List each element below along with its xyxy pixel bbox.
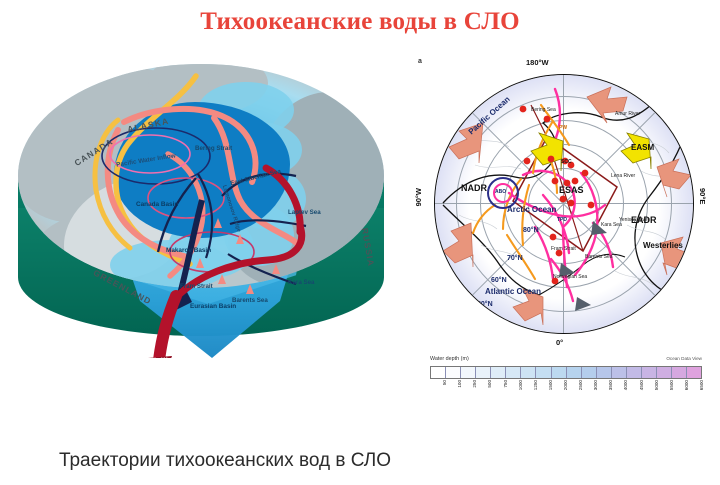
arctic-3d-block-diagram: CANADA ALASKA GREENLAND RUSSIA Pacific W… <box>0 58 400 358</box>
arctic-polar-map-figure: a 180°W 90°W 90°E 0° <box>412 56 712 401</box>
colorbar-swatch <box>597 367 612 378</box>
colorbar-swatch <box>642 367 657 378</box>
circulation-arrows <box>0 58 400 358</box>
colorbar-tick-label: 100 <box>457 380 462 388</box>
label-lon-90w: 90°W <box>414 188 423 206</box>
wind-arrow-north <box>587 87 627 123</box>
colorbar-swatch <box>431 367 446 378</box>
colorbar-swatch <box>567 367 582 378</box>
colorbar-title: Water depth (m) <box>430 356 469 362</box>
label-lon-0: 0° <box>556 338 563 347</box>
wind-arrow-west <box>443 223 473 267</box>
colorbar-swatch <box>506 367 521 378</box>
colorbar-tick-label: 250 <box>472 380 477 388</box>
makarov-basin-outline <box>148 178 224 218</box>
abo-eddy-circle <box>488 178 518 208</box>
polar-map-disc: Pacific Ocean Arctic Ocean Atlantic Ocea… <box>434 74 694 334</box>
colorbar-tick-label: 5500 <box>669 380 674 390</box>
page-title: Тихоокеанские воды в СЛО <box>0 8 720 36</box>
attribution-label: Ocean Data View <box>666 356 702 361</box>
colorbar-swatch <box>627 367 642 378</box>
colorbar-tick-label: 1000 <box>518 380 523 390</box>
colorbar-tick-label: 50 <box>442 380 447 385</box>
colorbar-tick-label: 2500 <box>578 380 583 390</box>
colorbar-tick-label: 6500 <box>699 380 704 390</box>
colorbar-swatch <box>687 367 701 378</box>
colorbar-tick-label: 3000 <box>593 380 598 390</box>
colorbar-tick-label: 1500 <box>548 380 553 390</box>
panel-letter: a <box>418 58 422 65</box>
colorbar-tick-label: 750 <box>503 380 508 388</box>
colorbar-swatch <box>612 367 627 378</box>
wind-arrow-westerlies <box>661 237 693 275</box>
colorbar-tick-label: 3500 <box>608 380 613 390</box>
colorbar-swatch <box>657 367 672 378</box>
colorbar-swatch <box>536 367 551 378</box>
colorbar-ticks: 5010025050075010001250150020002500300035… <box>430 380 702 406</box>
colorbar-tick-label: 1250 <box>533 380 538 390</box>
colorbar-swatch <box>521 367 536 378</box>
colorbar-gradient <box>430 366 702 379</box>
colorbar-swatch <box>552 367 567 378</box>
label-lon-90e: 90°E <box>698 188 707 204</box>
colorbar-swatch <box>491 367 506 378</box>
colorbar-tick-label: 4500 <box>639 380 644 390</box>
colorbar-tick-label: 500 <box>487 380 492 388</box>
colorbar-swatch <box>446 367 461 378</box>
map-vector-overlay <box>435 75 693 333</box>
wind-arrow-east <box>657 159 691 197</box>
colorbar-swatch <box>461 367 476 378</box>
easm-arrow-inner <box>531 133 563 171</box>
colorbar-tick-label: 2000 <box>563 380 568 390</box>
colorbar-swatch <box>672 367 687 378</box>
colorbar-swatch <box>476 367 491 378</box>
slide-caption: Траектории тихоокеанских вод в СЛО <box>0 450 450 472</box>
label-lon-180w: 180°W <box>526 58 549 67</box>
colorbar-tick-label: 5000 <box>654 380 659 390</box>
label-atlantic-water-inflow: Atlantic Water Inflow <box>136 358 184 365</box>
atlantic-inflow-descent <box>158 296 176 358</box>
colorbar-tick-label: 4000 <box>623 380 628 390</box>
wind-arrow-northwest <box>449 123 483 163</box>
colorbar-tick-label: 6000 <box>684 380 689 390</box>
easm-arrow-outer <box>621 133 651 169</box>
colorbar-swatch <box>582 367 597 378</box>
